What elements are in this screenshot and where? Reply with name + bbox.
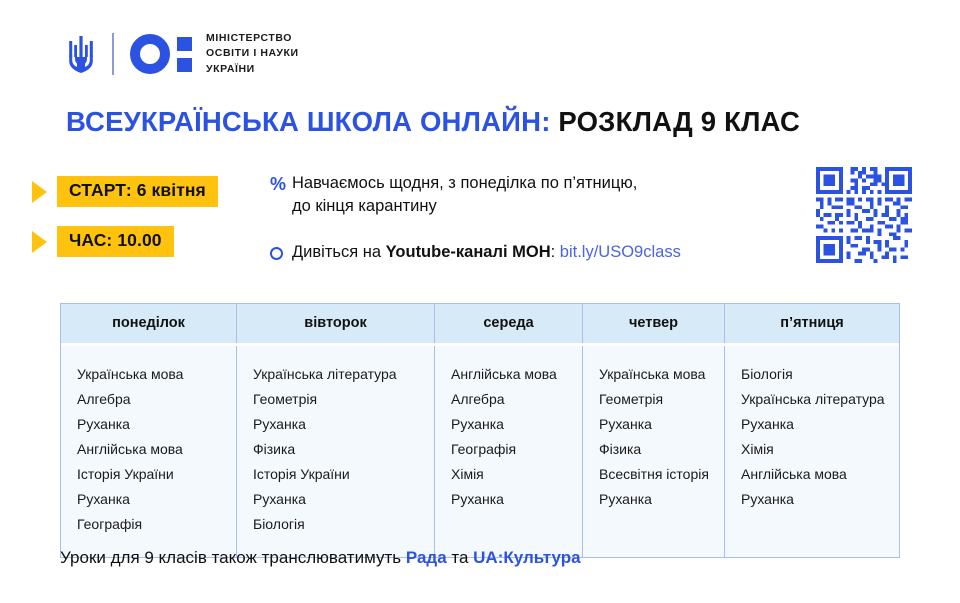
lesson-item: Руханка bbox=[253, 487, 434, 512]
mon-o-logo-icon bbox=[130, 34, 192, 74]
page-title: ВСЕУКРАЇНСЬКА ШКОЛА ОНЛАЙН: РОЗКЛАД 9 КЛ… bbox=[66, 106, 800, 138]
schedule-column-friday: Біологія Українська література Руханка Х… bbox=[725, 346, 899, 557]
triangle-right-icon bbox=[32, 231, 47, 253]
badge-start-time-label: ЧАС: 10.00 bbox=[57, 226, 174, 257]
lesson-item: Всесвітня історія bbox=[599, 462, 724, 487]
footer-prefix: Уроки для 9 класів також транслюватимуть bbox=[60, 548, 406, 567]
ministry-line-2: ОСВІТИ І НАУКИ bbox=[206, 46, 299, 61]
lesson-item: Руханка bbox=[451, 412, 582, 437]
key-facts-badges: СТАРТ: 6 квітня ЧАС: 10.00 bbox=[32, 176, 262, 276]
lesson-item: Українська література bbox=[253, 362, 434, 387]
lesson-item: Геометрія bbox=[253, 387, 434, 412]
lesson-item: Історія України bbox=[77, 462, 236, 487]
schedule-header-monday: понеділок bbox=[61, 304, 237, 343]
schedule-table: понеділок вівторок середа четвер п’ятниц… bbox=[60, 303, 900, 558]
lesson-item: Хімія bbox=[451, 462, 582, 487]
schedule-header-tuesday: вівторок bbox=[237, 304, 435, 343]
footer-channel-ua-kultura: UA:Культура bbox=[473, 548, 580, 567]
info-list: % Навчаємось щодня, з понеділка по п’ятн… bbox=[270, 172, 800, 289]
lesson-item: Українська література bbox=[741, 387, 899, 412]
lesson-item: Історія України bbox=[253, 462, 434, 487]
lesson-item: Руханка bbox=[599, 412, 724, 437]
lesson-item: Географія bbox=[451, 437, 582, 462]
lesson-item: Українська мова bbox=[599, 362, 724, 387]
lesson-item: Руханка bbox=[599, 487, 724, 512]
info-schedule-line-1: Навчаємось щодня, з понеділка по п’ятниц… bbox=[292, 172, 637, 195]
ministry-name: МІНІСТЕРСТВО ОСВІТИ І НАУКИ УКРАЇНИ bbox=[206, 31, 299, 77]
lesson-item: Руханка bbox=[253, 412, 434, 437]
logo-squares-shape bbox=[177, 37, 192, 72]
lesson-item: Фізика bbox=[599, 437, 724, 462]
circle-outline-icon bbox=[270, 241, 292, 267]
info-schedule-line-2: до кінця карантину bbox=[292, 195, 637, 218]
schedule-body-row: Українська мова Алгебра Руханка Англійсь… bbox=[61, 346, 899, 557]
lesson-item: Геометрія bbox=[599, 387, 724, 412]
ukraine-trident-icon bbox=[68, 34, 94, 74]
info-item-schedule-text: Навчаємось щодня, з понеділка по п’ятниц… bbox=[292, 172, 637, 219]
schedule-header-thursday: четвер bbox=[583, 304, 725, 343]
percent-icon: % bbox=[270, 172, 292, 198]
footer-broadcast-note: Уроки для 9 класів також транслюватимуть… bbox=[60, 548, 581, 568]
schedule-column-monday: Українська мова Алгебра Руханка Англійсь… bbox=[61, 346, 237, 557]
logo-ring-shape bbox=[130, 34, 170, 74]
info-item-youtube: Дивіться на Youtube-каналі МОН: bit.ly/U… bbox=[270, 241, 800, 267]
schedule-column-wednesday: Англійська мова Алгебра Руханка Географі… bbox=[435, 346, 583, 557]
ministry-line-3: УКРАЇНИ bbox=[206, 62, 299, 77]
logo-square-bottom bbox=[177, 58, 192, 72]
info-item-youtube-text: Дивіться на Youtube-каналі МОН: bit.ly/U… bbox=[292, 241, 681, 264]
logo-square-top bbox=[177, 37, 192, 51]
lesson-item: Алгебра bbox=[77, 387, 236, 412]
youtube-colon: : bbox=[551, 243, 560, 261]
lesson-item: Англійська мова bbox=[77, 437, 236, 462]
lesson-item: Біологія bbox=[741, 362, 899, 387]
info-item-schedule: % Навчаємось щодня, з понеділка по п’ятн… bbox=[270, 172, 800, 219]
footer-channel-rada: Рада bbox=[406, 548, 447, 567]
lesson-item: Хімія bbox=[741, 437, 899, 462]
page-title-highlight: ВСЕУКРАЇНСЬКА ШКОЛА ОНЛАЙН: bbox=[66, 106, 551, 137]
lesson-item: Географія bbox=[77, 512, 236, 537]
lesson-item: Алгебра bbox=[451, 387, 582, 412]
youtube-prefix: Дивіться на bbox=[292, 243, 386, 261]
schedule-column-tuesday: Українська література Геометрія Руханка … bbox=[237, 346, 435, 557]
schedule-header-friday: п’ятниця bbox=[725, 304, 899, 343]
badge-start-date: СТАРТ: 6 квітня bbox=[32, 176, 262, 207]
badge-start-time: ЧАС: 10.00 bbox=[32, 226, 262, 257]
lesson-item: Українська мова bbox=[77, 362, 236, 387]
mon-logo: МІНІСТЕРСТВО ОСВІТИ І НАУКИ УКРАЇНИ bbox=[68, 24, 299, 84]
lesson-item: Англійська мова bbox=[451, 362, 582, 387]
youtube-channel-name: Youtube-каналі МОН bbox=[386, 243, 551, 261]
qr-code-icon bbox=[816, 167, 912, 263]
logo-divider bbox=[112, 33, 114, 75]
lesson-item: Фізика bbox=[253, 437, 434, 462]
ministry-line-1: МІНІСТЕРСТВО bbox=[206, 31, 299, 46]
lesson-item: Руханка bbox=[741, 412, 899, 437]
schedule-header-row: понеділок вівторок середа четвер п’ятниц… bbox=[61, 304, 899, 346]
footer-middle: та bbox=[447, 548, 474, 567]
lesson-item: Руханка bbox=[741, 487, 899, 512]
lesson-item: Руханка bbox=[451, 487, 582, 512]
lesson-item: Англійська мова bbox=[741, 462, 899, 487]
page-title-rest: РОЗКЛАД 9 КЛАС bbox=[551, 106, 800, 137]
youtube-link[interactable]: bit.ly/USO9class bbox=[560, 243, 681, 261]
lesson-item: Руханка bbox=[77, 487, 236, 512]
schedule-column-thursday: Українська мова Геометрія Руханка Фізика… bbox=[583, 346, 725, 557]
triangle-right-icon bbox=[32, 181, 47, 203]
schedule-header-wednesday: середа bbox=[435, 304, 583, 343]
badge-start-date-label: СТАРТ: 6 квітня bbox=[57, 176, 218, 207]
lesson-item: Біологія bbox=[253, 512, 434, 537]
lesson-item: Руханка bbox=[77, 412, 236, 437]
